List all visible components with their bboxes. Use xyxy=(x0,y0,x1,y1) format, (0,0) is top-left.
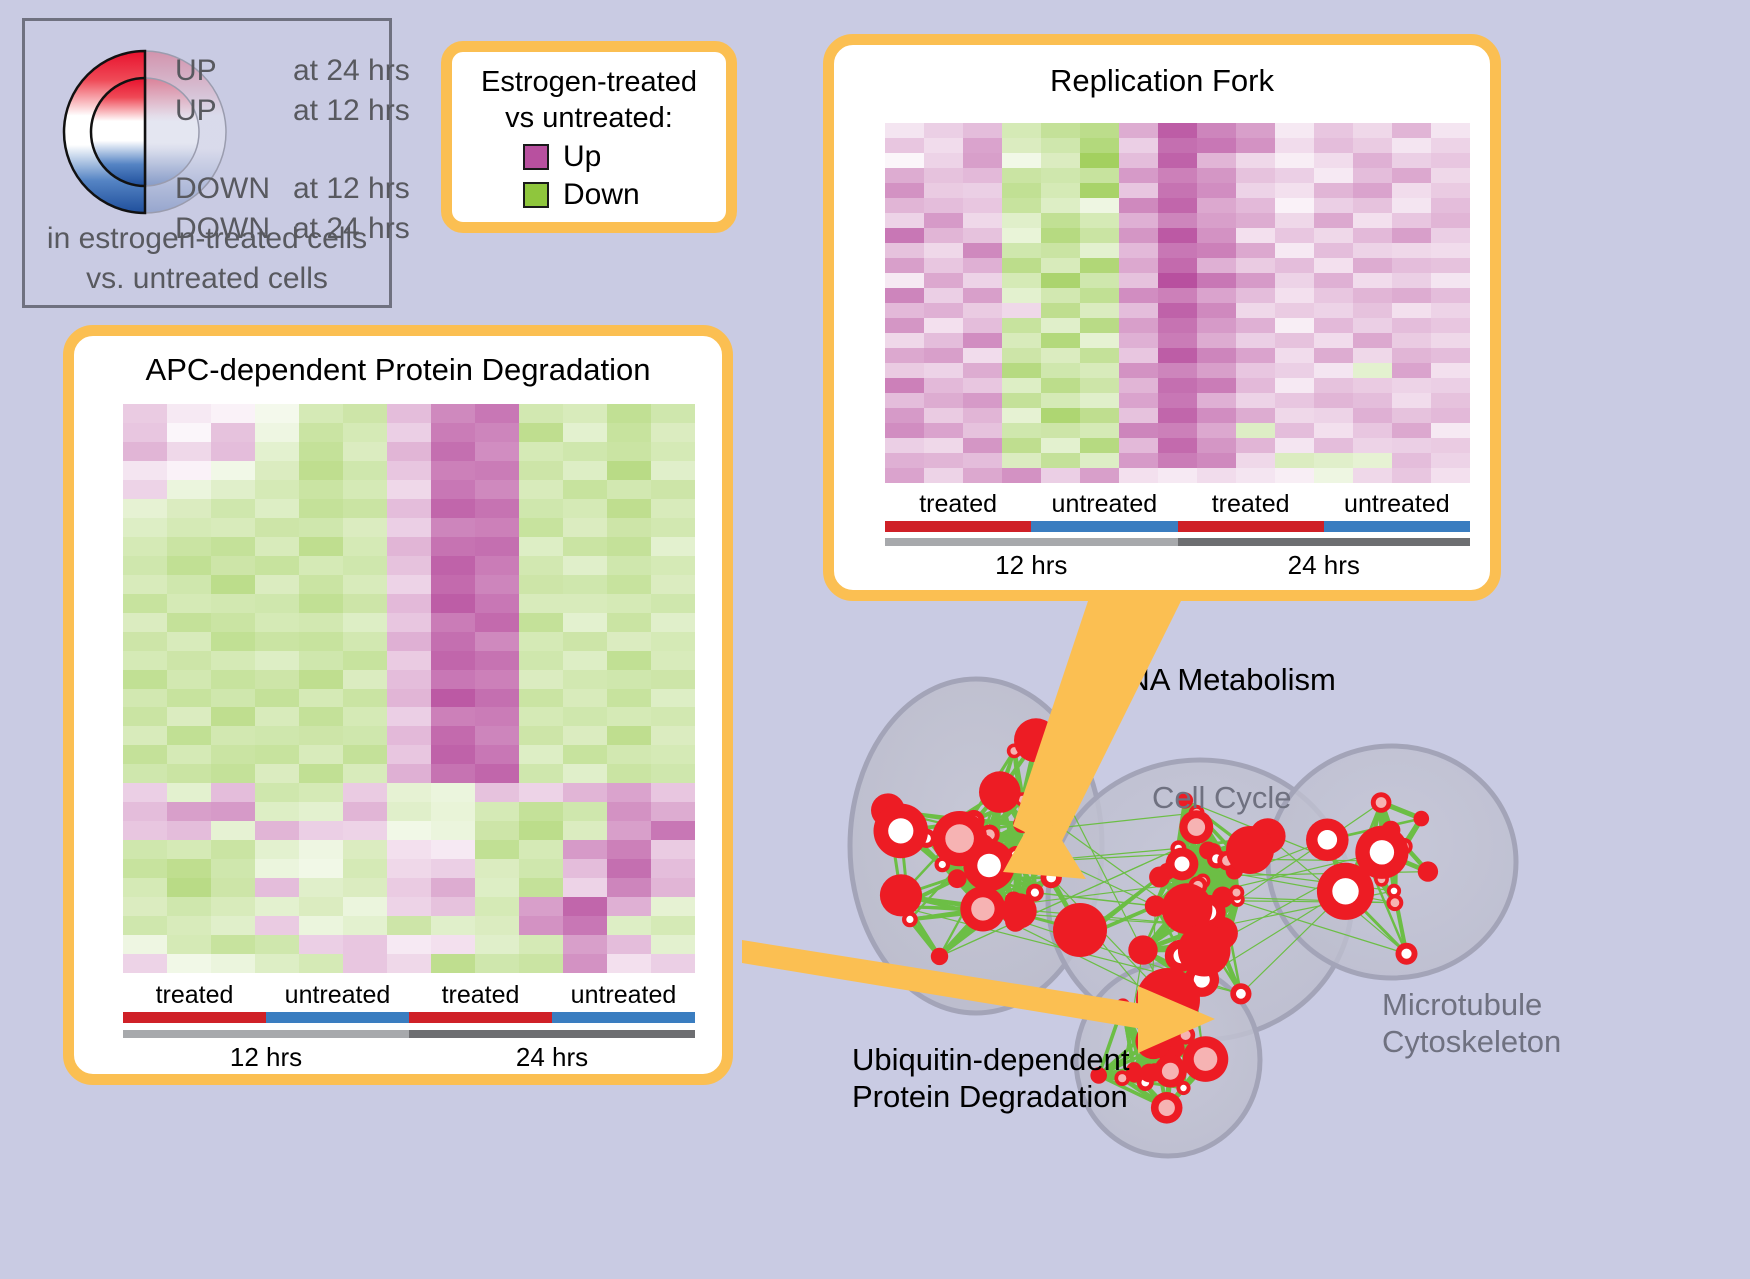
heatmap-cell xyxy=(1236,288,1275,303)
heatmap-cell xyxy=(1041,123,1080,138)
heatmap-cell xyxy=(885,273,924,288)
heatmap-cell xyxy=(1158,363,1197,378)
heatmap-cell xyxy=(255,632,299,651)
heatmap-cell xyxy=(651,689,695,708)
network-node[interactable] xyxy=(1414,811,1430,827)
heatmap-cell xyxy=(1197,258,1236,273)
heatmap-cell xyxy=(651,499,695,518)
panel-title-apc-dependent: APC-dependent Protein Degradation xyxy=(74,352,722,388)
heatmap-cell xyxy=(167,916,211,935)
heatmap-cell xyxy=(519,518,563,537)
network-node[interactable] xyxy=(1014,718,1058,762)
network-node[interactable] xyxy=(1418,861,1438,881)
heatmap-cell xyxy=(1119,288,1158,303)
heatmap-cell xyxy=(431,764,475,783)
heatmap-cell xyxy=(1392,348,1431,363)
network-node-core xyxy=(906,916,913,923)
network-node[interactable] xyxy=(1136,968,1200,1032)
network-node-core xyxy=(1175,857,1190,872)
heatmap-cell xyxy=(1314,453,1353,468)
heatmap-cell xyxy=(343,726,387,745)
heatmap-cell xyxy=(1119,153,1158,168)
heatmap-cell xyxy=(924,363,963,378)
heatmap-cell xyxy=(475,840,519,859)
network-node-core xyxy=(1031,889,1039,897)
heatmap-cell xyxy=(651,840,695,859)
heatmap-cell xyxy=(1119,168,1158,183)
heatmap-cell xyxy=(651,575,695,594)
heatmap-cell xyxy=(1197,213,1236,228)
heatmap-cell xyxy=(563,745,607,764)
heatmap-cell xyxy=(299,783,343,802)
network-node-core xyxy=(1046,873,1056,883)
heatmap-cell xyxy=(1002,243,1041,258)
heatmap-cell xyxy=(343,954,387,973)
heatmap-cell xyxy=(1275,198,1314,213)
heatmap-cell xyxy=(1041,243,1080,258)
heatmap-cell xyxy=(924,183,963,198)
heatmap-cell xyxy=(1119,213,1158,228)
heatmap-cell xyxy=(167,423,211,442)
heatmap-cell xyxy=(299,821,343,840)
bar-time-24hrs xyxy=(409,1030,695,1038)
heatmap-cell xyxy=(963,333,1002,348)
heatmap-cell xyxy=(1119,453,1158,468)
heatmap-cell xyxy=(519,783,563,802)
heatmap-cell xyxy=(431,537,475,556)
heatmap-cell xyxy=(924,213,963,228)
heatmap-cell xyxy=(299,499,343,518)
heatmap-cell xyxy=(1002,453,1041,468)
time-label: 12 hrs xyxy=(885,548,1178,582)
heatmap-cell xyxy=(1314,138,1353,153)
heatmap-cell xyxy=(123,859,167,878)
network-node[interactable] xyxy=(1013,815,1031,833)
network-node[interactable] xyxy=(1001,893,1036,928)
heatmap-cell xyxy=(1236,453,1275,468)
heatmap-cell xyxy=(963,153,1002,168)
heatmap-cell xyxy=(211,916,255,935)
heatmap-cell xyxy=(1275,258,1314,273)
heatmap-cell xyxy=(519,897,563,916)
heatmap-cell xyxy=(387,480,431,499)
heatmap-cell xyxy=(1236,438,1275,453)
heatmap-cell xyxy=(1080,273,1119,288)
heatmap-cell xyxy=(387,878,431,897)
heatmap-cell xyxy=(1002,348,1041,363)
heatmap-cell xyxy=(343,537,387,556)
network-node[interactable] xyxy=(1023,841,1041,859)
bar-time-12hrs xyxy=(123,1030,409,1038)
heatmap-cell xyxy=(563,518,607,537)
heatmap-cell xyxy=(1002,213,1041,228)
heatmap-cell xyxy=(607,518,651,537)
heatmap-cell xyxy=(1392,138,1431,153)
heatmap-cell xyxy=(1158,288,1197,303)
heatmap-cell xyxy=(1353,348,1392,363)
heatmap-cell xyxy=(1158,123,1197,138)
heatmap-cell xyxy=(255,707,299,726)
heatmap-cell xyxy=(1236,273,1275,288)
heatmap-cell xyxy=(1392,213,1431,228)
legend-direction-label: DOWN xyxy=(175,169,293,209)
group-label: treated xyxy=(885,489,1031,519)
heatmap-cell xyxy=(387,670,431,689)
heatmap-cell xyxy=(1236,423,1275,438)
heatmap-cell xyxy=(255,537,299,556)
heatmap-cell xyxy=(211,954,255,973)
heatmap-cell xyxy=(1197,333,1236,348)
heatmap-cell xyxy=(343,651,387,670)
network-node-core xyxy=(1370,840,1394,864)
heatmap-cell xyxy=(607,821,651,840)
heatmap-cell xyxy=(1314,168,1353,183)
heatmap-cell xyxy=(123,954,167,973)
group-label: treated xyxy=(1178,489,1324,519)
heatmap-cell xyxy=(1041,408,1080,423)
heatmap-cell xyxy=(1275,303,1314,318)
heatmap-cell xyxy=(1002,183,1041,198)
network-node-core xyxy=(1376,797,1387,808)
heatmap-cell xyxy=(924,123,963,138)
heatmap-cell xyxy=(387,613,431,632)
heatmap-cell xyxy=(167,783,211,802)
heatmap-cell xyxy=(651,518,695,537)
heatmap-cell xyxy=(343,575,387,594)
heatmap-cell xyxy=(1002,273,1041,288)
heatmap-cell xyxy=(563,632,607,651)
heatmap-cell xyxy=(1353,258,1392,273)
up-color-swatch xyxy=(523,144,549,170)
heatmap-cell xyxy=(1275,348,1314,363)
heatmap-cell xyxy=(607,404,651,423)
heatmap-cell xyxy=(1275,318,1314,333)
heatmap-cell xyxy=(651,954,695,973)
heatmap-cell xyxy=(1002,393,1041,408)
heatmap-cell xyxy=(924,393,963,408)
heatmap-cell xyxy=(1197,318,1236,333)
heatmap-cell xyxy=(963,213,1002,228)
heatmap-cell xyxy=(1275,363,1314,378)
heatmap-cell xyxy=(475,670,519,689)
heatmap-cell xyxy=(963,303,1002,318)
heatmap-cell xyxy=(1080,288,1119,303)
heatmap-cell xyxy=(255,594,299,613)
network-node-core xyxy=(1332,878,1358,904)
column-group-labels-replication-fork: treated untreated treated untreated 12 h… xyxy=(885,489,1470,582)
updown-title-line1: Estrogen-treated xyxy=(452,64,726,100)
group-label: treated xyxy=(123,980,266,1010)
heatmap-cell xyxy=(519,954,563,973)
heatmap-cell xyxy=(519,404,563,423)
heatmap-cell xyxy=(167,461,211,480)
heatmap-cell xyxy=(1431,198,1470,213)
heatmap-cell xyxy=(963,138,1002,153)
heatmap-cell xyxy=(563,878,607,897)
heatmap-cell xyxy=(607,859,651,878)
heatmap-cell xyxy=(1236,138,1275,153)
network-node[interactable] xyxy=(948,869,967,888)
heatmap-cell xyxy=(299,764,343,783)
heatmap-cell xyxy=(475,783,519,802)
heatmap-cell xyxy=(1431,468,1470,483)
heatmap-cell xyxy=(519,802,563,821)
heatmap-cell xyxy=(167,802,211,821)
heatmap-cell xyxy=(651,594,695,613)
heatmap-cell xyxy=(255,499,299,518)
heatmap-cell xyxy=(924,243,963,258)
heatmap-cell xyxy=(387,840,431,859)
heatmap-cell xyxy=(255,802,299,821)
heatmap-cell xyxy=(963,423,1002,438)
heatmap-cell xyxy=(475,537,519,556)
heatmap-cell xyxy=(167,537,211,556)
heatmap-cell xyxy=(1431,348,1470,363)
heatmap-cell xyxy=(563,897,607,916)
heatmap-cell xyxy=(924,288,963,303)
heatmap-cell xyxy=(519,651,563,670)
heatmap-cell xyxy=(651,821,695,840)
heatmap-cell xyxy=(1236,393,1275,408)
heatmap-cell xyxy=(211,878,255,897)
heatmap-cell xyxy=(1353,318,1392,333)
heatmap-cell xyxy=(343,480,387,499)
heatmap-cell xyxy=(1002,153,1041,168)
network-node[interactable] xyxy=(1178,924,1231,977)
heatmap-cell xyxy=(343,518,387,537)
heatmap-cell xyxy=(299,897,343,916)
heatmap-cell xyxy=(1431,213,1470,228)
legend-footer-line2: vs. untreated cells xyxy=(25,259,389,299)
heatmap-cell xyxy=(167,499,211,518)
heatmap-cell xyxy=(1002,123,1041,138)
heatmap-cell xyxy=(607,897,651,916)
heatmap-cell xyxy=(1197,288,1236,303)
heatmap-cell xyxy=(299,556,343,575)
heatmap-cell xyxy=(211,404,255,423)
heatmap-cell xyxy=(167,442,211,461)
heatmap-cell xyxy=(1197,228,1236,243)
heatmap-cell xyxy=(299,707,343,726)
heatmap-cell xyxy=(299,935,343,954)
heatmap-cell xyxy=(1041,258,1080,273)
heatmap-cell xyxy=(475,632,519,651)
heatmap-cell xyxy=(1431,393,1470,408)
updown-title-line2: vs untreated: xyxy=(452,100,726,136)
heatmap-cell xyxy=(963,168,1002,183)
heatmap-cell xyxy=(607,802,651,821)
heatmap-cell xyxy=(1353,393,1392,408)
heatmap-cell xyxy=(475,897,519,916)
heatmap-cell xyxy=(255,916,299,935)
heatmap-cell xyxy=(651,537,695,556)
heatmap-cell xyxy=(123,878,167,897)
heatmap-cell xyxy=(1353,408,1392,423)
heatmap-cell xyxy=(1392,393,1431,408)
heatmap-cell xyxy=(1041,273,1080,288)
heatmap-cell xyxy=(1431,303,1470,318)
heatmap-cell xyxy=(1392,303,1431,318)
network-node-core xyxy=(1181,1030,1191,1040)
heatmap-cell xyxy=(963,183,1002,198)
heatmap-cell xyxy=(123,783,167,802)
heatmap-cell xyxy=(924,198,963,213)
heatmap-cell xyxy=(1119,273,1158,288)
heatmap-cell xyxy=(1236,258,1275,273)
heatmap-cell xyxy=(1197,393,1236,408)
heatmap-cell xyxy=(885,168,924,183)
heatmap-cell xyxy=(255,518,299,537)
heatmap-cell xyxy=(1002,198,1041,213)
heatmap-cell xyxy=(1431,408,1470,423)
heatmap-cell xyxy=(431,575,475,594)
heatmap-cell xyxy=(651,423,695,442)
heatmap-cell xyxy=(431,556,475,575)
network-node[interactable] xyxy=(1053,903,1107,957)
heatmap-cell xyxy=(563,802,607,821)
heatmap-cell xyxy=(1353,183,1392,198)
network-node-core xyxy=(1391,898,1400,907)
heatmap-cell xyxy=(167,954,211,973)
heatmap-cell xyxy=(1392,243,1431,258)
heatmap-cell xyxy=(1080,438,1119,453)
heatmap-cell xyxy=(211,840,255,859)
heatmap-cell xyxy=(651,897,695,916)
time-color-bar xyxy=(885,538,1470,546)
heatmap-cell xyxy=(431,859,475,878)
legend-footer-line1: in estrogen-treated cells xyxy=(25,219,389,259)
heatmap-cell xyxy=(651,556,695,575)
network-node-core xyxy=(1318,830,1338,850)
heatmap-cell xyxy=(475,935,519,954)
heatmap-cell xyxy=(607,556,651,575)
bar-treated xyxy=(885,521,1031,532)
heatmap-cell xyxy=(211,935,255,954)
heatmap-cell xyxy=(924,153,963,168)
heatmap-cell xyxy=(1119,318,1158,333)
heatmap-cell xyxy=(519,878,563,897)
heatmap-cell xyxy=(299,461,343,480)
network-node[interactable] xyxy=(979,771,1021,813)
heatmap-cell xyxy=(1197,348,1236,363)
heatmap-cell xyxy=(1275,213,1314,228)
heatmap-cell xyxy=(387,745,431,764)
network-node-core xyxy=(1401,949,1411,959)
heatmap-cell xyxy=(607,537,651,556)
heatmap-cell xyxy=(924,378,963,393)
heatmap-cell xyxy=(123,632,167,651)
network-node[interactable] xyxy=(931,948,948,965)
heatmap-cell xyxy=(924,168,963,183)
heatmap-cell xyxy=(211,859,255,878)
heatmap-cell xyxy=(1119,183,1158,198)
heatmap-cell xyxy=(607,745,651,764)
heatmap-cell xyxy=(211,802,255,821)
heatmap-cell xyxy=(1080,423,1119,438)
heatmap-cell xyxy=(519,537,563,556)
heatmap-cell xyxy=(1392,333,1431,348)
heatmap-cell xyxy=(1041,228,1080,243)
heatmap-cell xyxy=(123,897,167,916)
heatmap-cell xyxy=(924,423,963,438)
heatmap-cell xyxy=(167,594,211,613)
heatmap-cell xyxy=(1041,288,1080,303)
heatmap-cell xyxy=(167,670,211,689)
heatmap-cell xyxy=(431,935,475,954)
heatmap-cell xyxy=(1392,378,1431,393)
heatmap-cell xyxy=(167,840,211,859)
network-node[interactable] xyxy=(880,874,922,916)
network-node[interactable] xyxy=(1128,935,1157,964)
heatmap-cell xyxy=(607,916,651,935)
heatmap-cell xyxy=(211,707,255,726)
heatmap-cell xyxy=(1353,153,1392,168)
heatmap-cell xyxy=(343,935,387,954)
heatmap-cell xyxy=(519,821,563,840)
heatmap-cell xyxy=(1275,453,1314,468)
heatmap-cell xyxy=(1041,303,1080,318)
heatmap-cell xyxy=(1158,138,1197,153)
time-label-row: 12 hrs 24 hrs xyxy=(885,548,1470,582)
heatmap-cell xyxy=(167,821,211,840)
heatmap-cell xyxy=(475,518,519,537)
heatmap-cell xyxy=(475,613,519,632)
heatmap-cell xyxy=(651,613,695,632)
heatmap-cell xyxy=(963,228,1002,243)
heatmap-cell xyxy=(563,461,607,480)
heatmap-cell xyxy=(885,468,924,483)
heatmap-cell xyxy=(387,802,431,821)
heatmap-cell xyxy=(123,707,167,726)
heatmap-cell xyxy=(519,916,563,935)
column-group-labels-apc: treated untreated treated untreated 12 h… xyxy=(123,980,695,1074)
heatmap-cell xyxy=(1314,288,1353,303)
heatmap-cell xyxy=(563,556,607,575)
heatmap-cell xyxy=(299,518,343,537)
heatmap-cell xyxy=(1353,123,1392,138)
heatmap-cell xyxy=(563,404,607,423)
heatmap-cell xyxy=(1002,333,1041,348)
heatmap-cell xyxy=(343,442,387,461)
heatmap-cell xyxy=(963,198,1002,213)
bar-treated xyxy=(1178,521,1324,532)
heatmap-cell xyxy=(924,333,963,348)
heatmap-cell xyxy=(387,707,431,726)
heatmap-cell xyxy=(431,878,475,897)
heatmap-cell xyxy=(167,632,211,651)
heatmap-cell xyxy=(255,764,299,783)
heatmap-cell xyxy=(475,461,519,480)
heatmap-cell xyxy=(885,348,924,363)
heatmap-cell xyxy=(1314,243,1353,258)
heatmap-cell xyxy=(1431,168,1470,183)
heatmap-cell xyxy=(1431,243,1470,258)
up-label: Up xyxy=(563,140,655,174)
heatmap-cell xyxy=(431,499,475,518)
heatmap-cell xyxy=(343,499,387,518)
legend-row-up24: UP at 24 hrs xyxy=(175,51,410,91)
heatmap-cell xyxy=(475,575,519,594)
network-node[interactable] xyxy=(1226,826,1274,874)
heatmap-cell xyxy=(1197,363,1236,378)
heatmap-cell xyxy=(1041,393,1080,408)
heatmap-cell xyxy=(1392,408,1431,423)
heatmap-cell xyxy=(475,499,519,518)
heatmap-cell xyxy=(924,468,963,483)
heatmap-cell xyxy=(607,707,651,726)
heatmap-cell xyxy=(885,303,924,318)
heatmap-cell xyxy=(299,442,343,461)
